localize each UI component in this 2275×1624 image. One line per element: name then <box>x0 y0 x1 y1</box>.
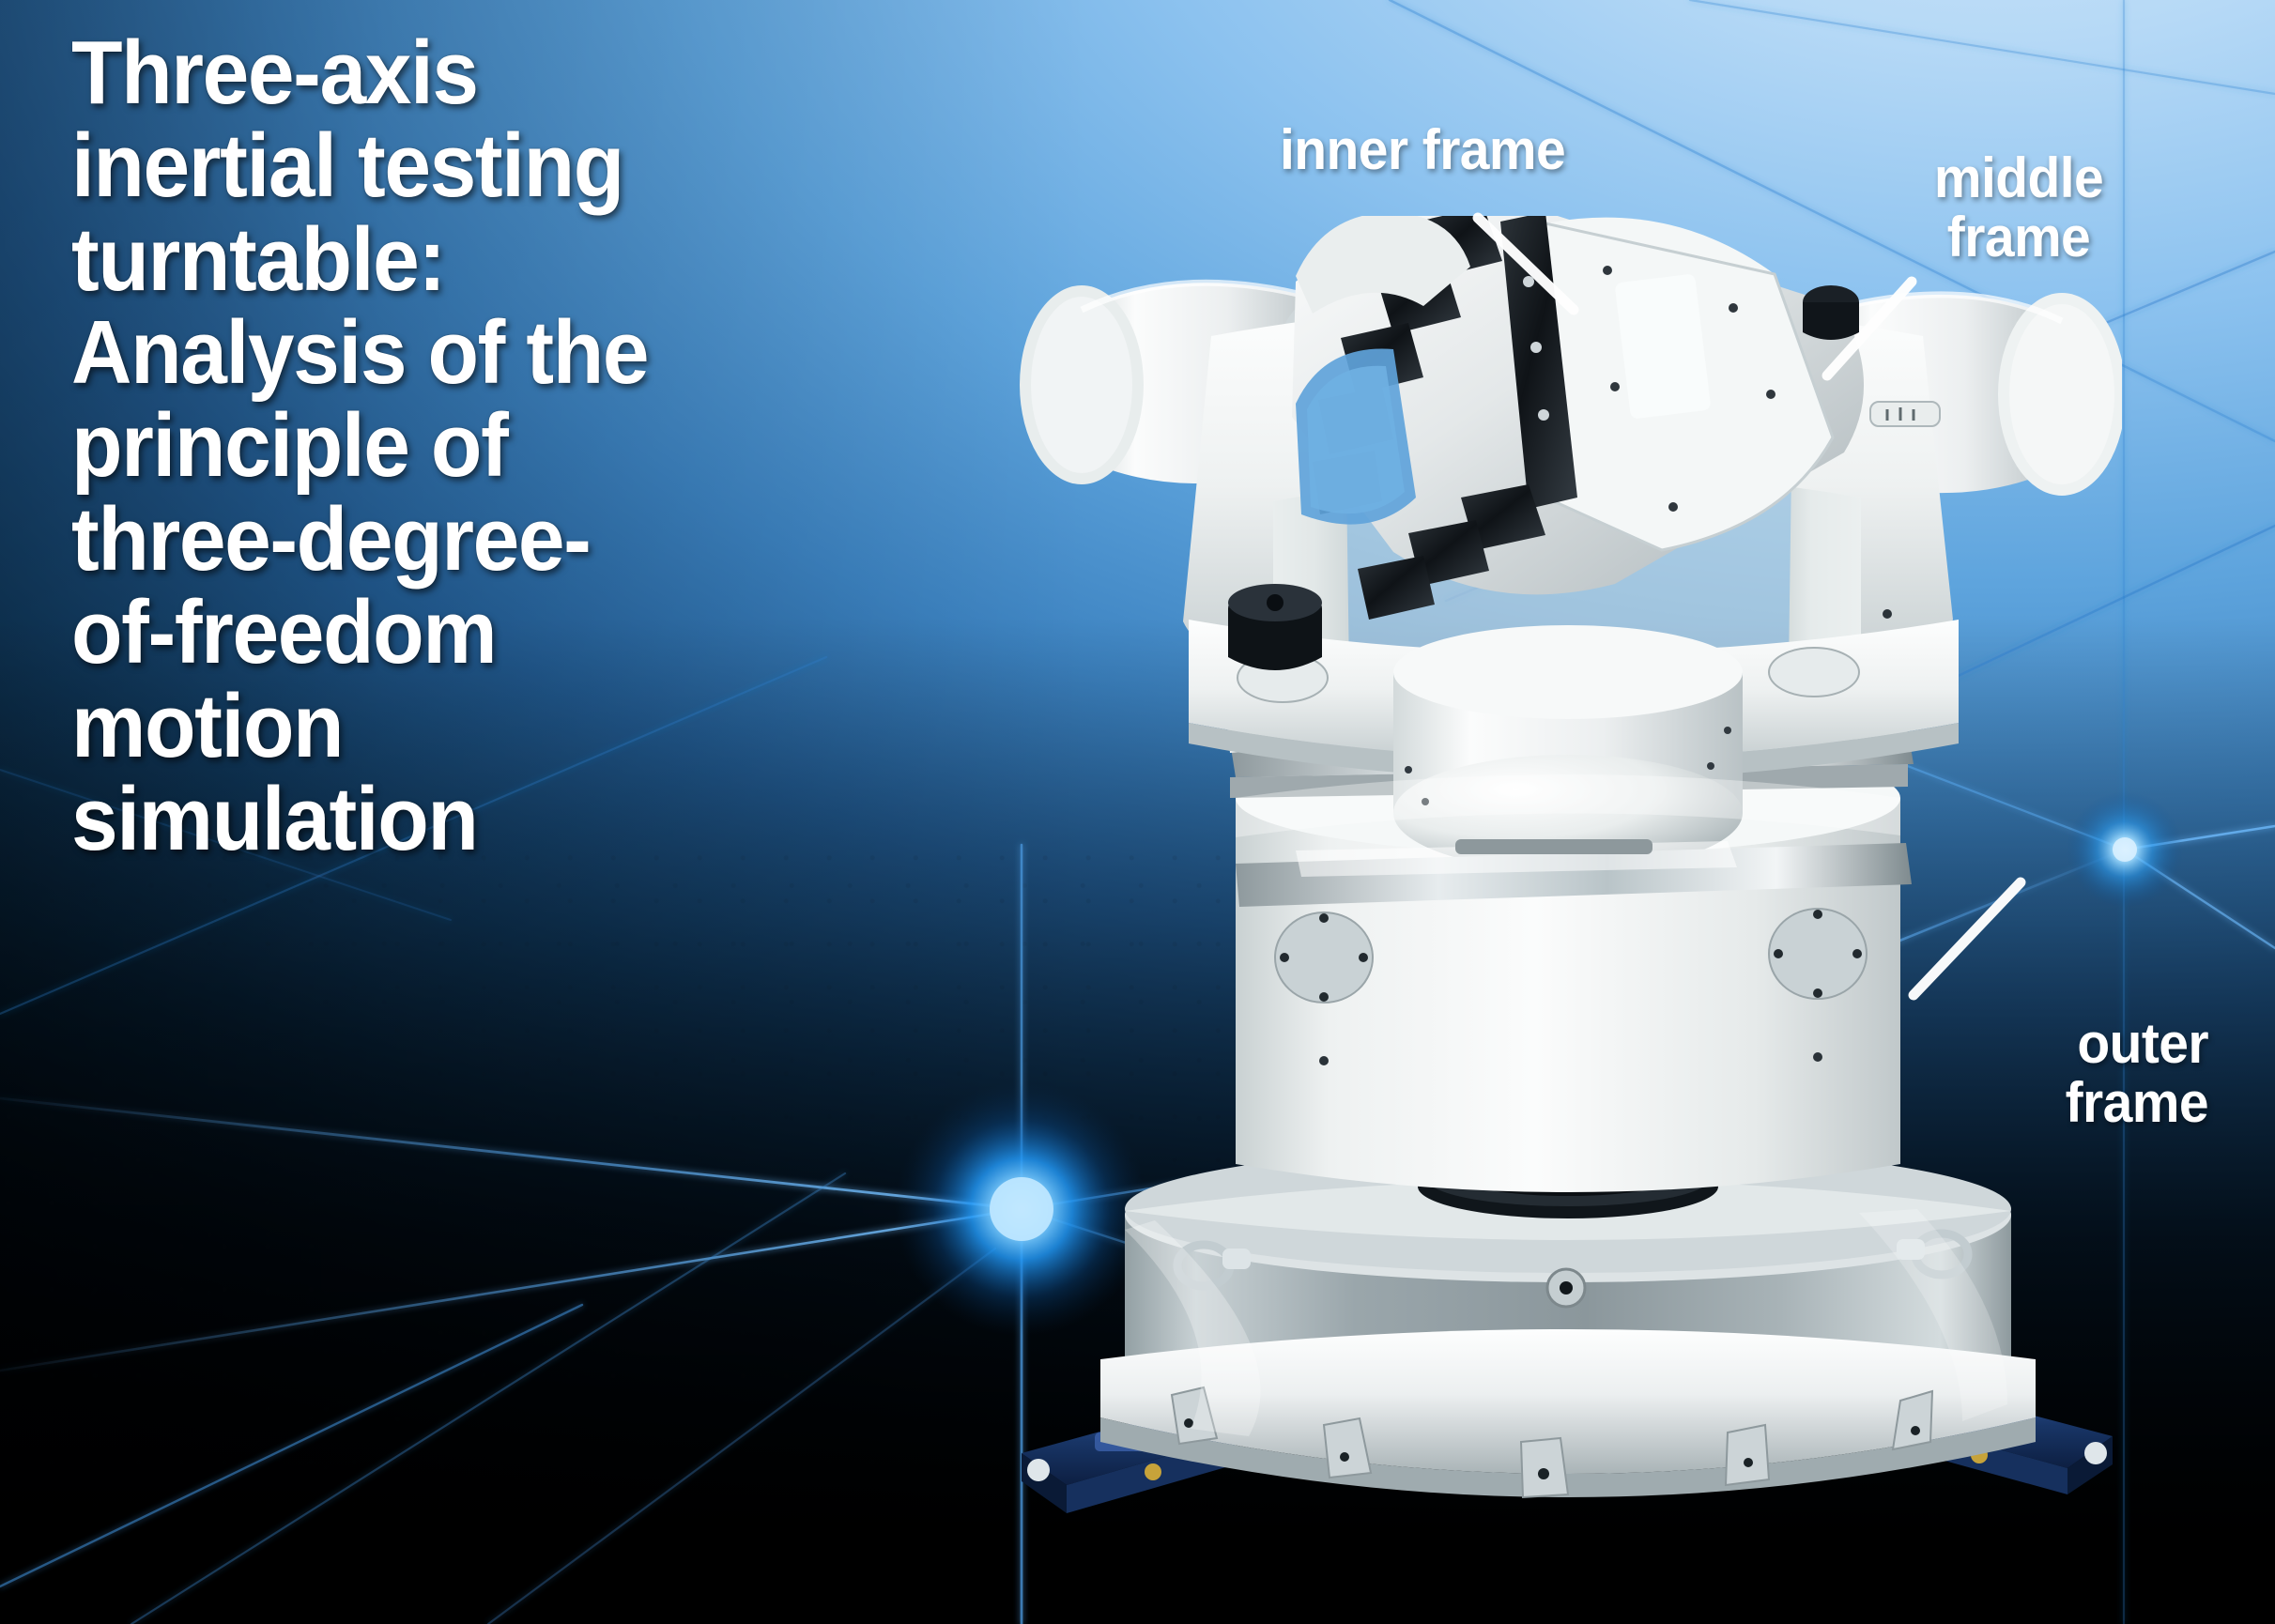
callout-label-inner-frame: inner frame <box>1280 120 1565 179</box>
page-title: Three-axis inertial testing turntable: A… <box>71 26 735 866</box>
callout-label-middle-frame: middle frame <box>1885 148 2153 267</box>
leader-line-middle <box>1827 282 1912 375</box>
leader-line-inner <box>1478 218 1574 310</box>
callout-label-outer-frame: outer frame <box>1923 1014 2208 1132</box>
leader-line-outer <box>1914 882 2021 995</box>
poster-canvas: Three-axis inertial testing turntable: A… <box>0 0 2275 1624</box>
